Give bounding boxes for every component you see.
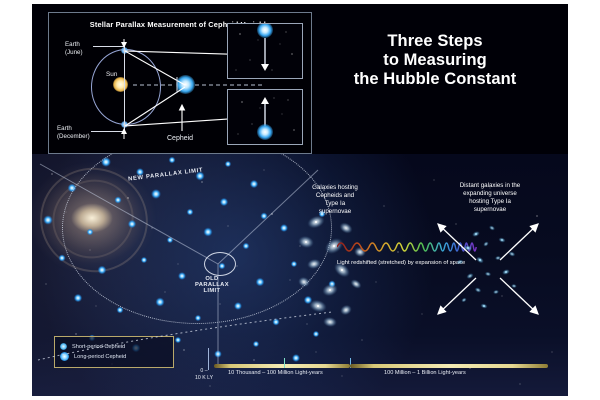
scale-sweep-arc: [32, 304, 568, 366]
scale-bar-one-label: 10 Thousand – 100 Million Light-years: [228, 370, 323, 376]
infographic-root: NEW PARALLAX LIMIT OLD PARALLAX LIMIT St…: [0, 0, 600, 400]
scale-bar-two-label: 100 Million – 1 Billion Light-years: [384, 370, 466, 376]
poster-canvas: NEW PARALLAX LIMIT OLD PARALLAX LIMIT St…: [32, 4, 568, 396]
page-title: Three Steps to Measuring the Hubble Cons…: [320, 32, 550, 89]
shift-star-bottom: [257, 124, 273, 140]
parallax-diagram-panel: Stellar Parallax Measurement of Cepheid …: [48, 12, 312, 154]
apparent-shift-box-june: [227, 23, 303, 79]
title-line-2: to Measuring: [320, 51, 550, 70]
title-line-3: the Hubble Constant: [320, 70, 550, 89]
apparent-shift-box-december: [227, 89, 303, 145]
near-distance-marker: 0 – 10 K LY: [195, 368, 213, 381]
title-line-1: Three Steps: [320, 32, 550, 51]
